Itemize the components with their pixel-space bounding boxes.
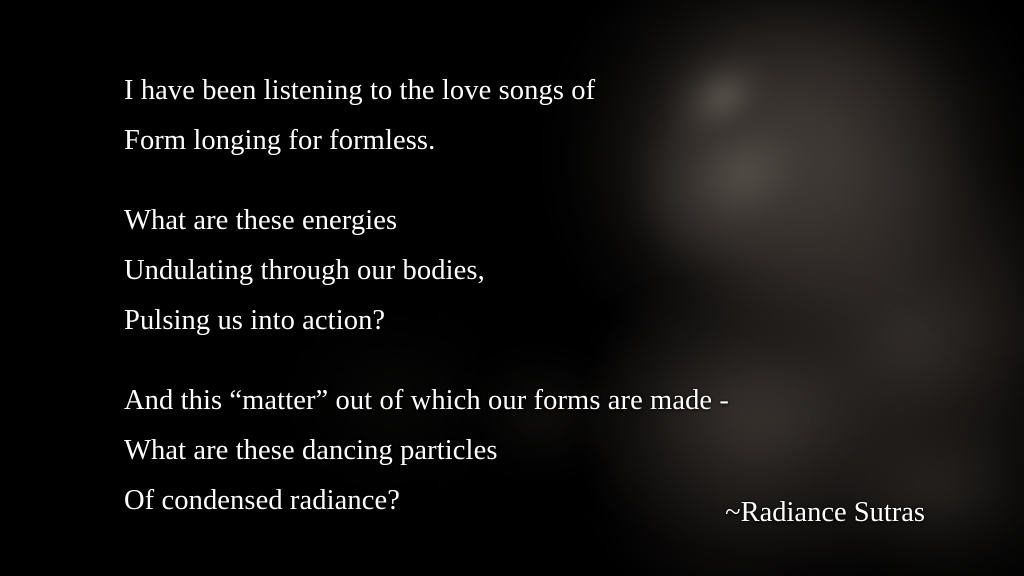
poem-stanza: I have been listening to the love songs … [124, 66, 934, 166]
poem-line: What are these energies [124, 196, 934, 246]
poem-text-block: I have been listening to the love songs … [124, 66, 934, 526]
poem-line: Undulating through our bodies, [124, 246, 934, 296]
poem-line: Pulsing us into action? [124, 296, 934, 346]
poem-line: I have been listening to the love songs … [124, 66, 934, 116]
quote-attribution: ~Radiance Sutras [124, 492, 925, 534]
poem-line: And this “matter” out of which our forms… [124, 376, 934, 426]
poem-line: What are these dancing particles [124, 426, 934, 476]
poem-stanza: What are these energies Undulating throu… [124, 196, 934, 346]
poem-line: Form longing for formless. [124, 116, 934, 166]
quote-image-canvas: I have been listening to the love songs … [0, 0, 1024, 576]
